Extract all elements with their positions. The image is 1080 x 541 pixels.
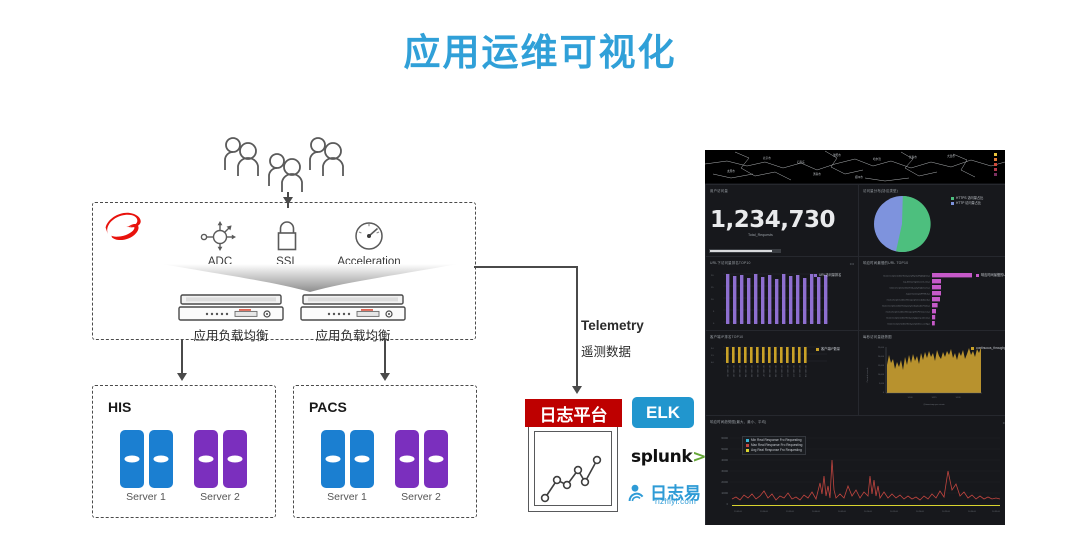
svg-text:14:00: 14:00 xyxy=(907,397,913,399)
panel-slow-url-title: 响应时间最慢的URL TOP10 xyxy=(863,260,908,265)
speedometer-icon xyxy=(324,218,414,252)
legend-item: 客户端IP数量 xyxy=(816,347,840,352)
svg-text:40000: 40000 xyxy=(721,459,728,462)
svg-text:/cgi-bin/wa/regist/HTML5.js: /cgi-bin/wa/regist/HTML5.js xyxy=(906,293,930,296)
svg-text:石家庄: 石家庄 xyxy=(797,160,805,164)
arrow-edge-to-his-head xyxy=(177,373,187,381)
slow-url-bar-chart: /statics/scripts/ueditor/third-party/Syn… xyxy=(862,270,1005,328)
log-platform-tab[interactable]: 日志平台 xyxy=(525,399,622,427)
server-icon xyxy=(194,430,218,488)
svg-text:北京市: 北京市 xyxy=(763,156,771,160)
svg-text:192.168.1.113: 192.168.1.113 xyxy=(798,365,800,377)
pacs-server-1-label: Server 1 xyxy=(314,491,380,503)
svg-text:10000: 10000 xyxy=(721,492,728,495)
svg-text:192.168.1.105: 192.168.1.105 xyxy=(750,365,752,377)
legend-item: continuous_throughput xyxy=(971,346,1005,351)
panel-client-ip[interactable]: 客户端IP排名TOP10 3.01.50.0 xyxy=(705,330,859,416)
legend-item: 响应时间最慢的URL xyxy=(976,273,1005,278)
panel-traffic-area[interactable]: 每秒访问量趋势图 25,00020,000 15,00010,000 5,000… xyxy=(858,330,1005,416)
traffic-area-legend: continuous_throughput xyxy=(971,346,1005,351)
svg-text:15,000: 15,000 xyxy=(878,365,885,367)
feature-acceleration: Acceleration xyxy=(324,218,414,268)
user-group-right xyxy=(307,136,351,178)
panel-total-requests-title: 用户访问量 xyxy=(710,188,728,193)
panel-response-time-title: 响应时间趋势图(最大、最小、平均) xyxy=(710,419,767,424)
svg-text:0: 0 xyxy=(727,503,729,506)
svg-text:济南市: 济南市 xyxy=(813,172,821,176)
svg-text:192.168.1.108: 192.168.1.108 xyxy=(768,365,770,377)
rizhiyi-logo-domain: rizhiyi.com xyxy=(655,497,696,506)
telemetry-connector-horizontal xyxy=(474,266,578,268)
telemetry-connector-vertical xyxy=(576,266,578,390)
svg-text:30000: 30000 xyxy=(721,470,728,473)
server-icon xyxy=(149,430,173,488)
svg-text:14:25:00: 14:25:00 xyxy=(942,511,951,513)
svg-text:192.168.1.104: 192.168.1.104 xyxy=(744,365,746,377)
his-server-1-label: Server 1 xyxy=(113,491,179,503)
panel-horizontal-scrollbar[interactable] xyxy=(709,249,781,253)
svg-text:13:45:00: 13:45:00 xyxy=(734,511,743,513)
splunk-logo-text: splunk xyxy=(631,447,692,467)
rack-server-icon xyxy=(177,294,285,324)
dashboard-map-panel[interactable]: 北京市石家庄 沈阳市哈尔滨 长春市大连市 太原市济南市 郑州市 xyxy=(705,150,1005,183)
panel-response-time-menu[interactable]: ••• xyxy=(1003,420,1005,425)
svg-text:192.168.1.112: 192.168.1.112 xyxy=(792,365,794,377)
response-time-legend: Min Real Response Fro Requesting Max Rea… xyxy=(742,436,806,455)
splunk-logo-chevron: > xyxy=(692,447,706,467)
svg-text:/statics/scripts/ueditor/third: /statics/scripts/ueditor/third-party/hig… xyxy=(889,287,930,290)
svg-text:/statics/scripts/ueditor/third: /statics/scripts/ueditor/third-party/edi… xyxy=(887,323,930,326)
arrow-edge-to-pacs-head xyxy=(380,373,390,381)
chart-card-sparkline xyxy=(535,432,611,508)
panel-slow-url[interactable]: 响应时间最慢的URL TOP10 /statics/scripts/uedito… xyxy=(858,256,1005,331)
rack-server-icon xyxy=(299,294,407,324)
svg-text:@timestamp per minute: @timestamp per minute xyxy=(923,403,945,406)
user-group-left xyxy=(222,136,266,178)
arrow-edge-to-his xyxy=(181,339,183,377)
svg-text:/statics/scripts/ueditor/third: /statics/scripts/ueditor/third-party/jqu… xyxy=(886,317,930,320)
svg-text:20,000: 20,000 xyxy=(878,356,885,358)
svg-text:192.168.1.107: 192.168.1.107 xyxy=(762,365,764,377)
svg-text:5: 5 xyxy=(713,311,715,313)
radware-swirl-logo xyxy=(100,208,146,244)
total-requests-value: 1,234,730 xyxy=(710,207,858,233)
chart-card-frame xyxy=(534,431,612,506)
his-server-1: Server 1 xyxy=(113,430,179,503)
svg-text:14:00:00: 14:00:00 xyxy=(812,511,821,513)
svg-text:15: 15 xyxy=(711,287,714,289)
url-hits-legend: URL访问量排名 xyxy=(814,273,841,278)
server-icon xyxy=(223,430,247,488)
svg-text:14:05:00: 14:05:00 xyxy=(838,511,847,513)
svg-text:/statics/scripts/ueditor/third: /statics/scripts/ueditor/third-party/zer… xyxy=(887,299,930,302)
padlock-icon xyxy=(242,218,332,252)
svg-text:/statics/scripts/ueditor/third: /statics/scripts/ueditor/third-party/Syn… xyxy=(883,275,930,278)
server-icon xyxy=(120,430,144,488)
client-ip-bar-chart: 3.01.50.0 192.168.1.101 192.168.1.102 19… xyxy=(709,344,855,412)
legend-item: URL访问量排名 xyxy=(814,273,841,278)
svg-text:10: 10 xyxy=(711,299,714,301)
url-hits-bar-chart: 2015 1050 xyxy=(709,270,855,328)
svg-text:0: 0 xyxy=(713,323,715,325)
svg-text:10,000: 10,000 xyxy=(878,374,885,376)
panel-total-requests[interactable]: 用户访问量 1,234,730 Total_Requests xyxy=(705,184,859,257)
svg-text:14:15: 14:15 xyxy=(931,397,937,399)
svg-text:13:55:00: 13:55:00 xyxy=(786,511,795,513)
traffic-area-chart: 25,00020,000 15,00010,000 5,0000 14:0014… xyxy=(862,343,1005,413)
svg-text:192.168.1.102: 192.168.1.102 xyxy=(732,365,734,377)
pacs-server-2: Server 2 xyxy=(388,430,454,503)
client-ip-legend: 客户端IP数量 xyxy=(816,347,840,352)
elk-button[interactable]: ELK xyxy=(632,397,694,428)
his-group-title: HIS xyxy=(108,399,131,415)
panel-client-ip-title: 客户端IP排名TOP10 xyxy=(710,334,743,339)
svg-text:192.168.1.101: 192.168.1.101 xyxy=(726,365,728,377)
svg-text:哈尔滨: 哈尔滨 xyxy=(873,157,881,161)
load-balancer-2: 应用负载均衡 xyxy=(298,294,408,344)
svg-text:192.168.1.106: 192.168.1.106 xyxy=(756,365,758,377)
svg-text:郑州市: 郑州市 xyxy=(855,175,863,179)
panel-url-hits-menu[interactable]: ••• xyxy=(850,261,854,266)
svg-text:/statics/scripts/ueditor/third: /statics/scripts/ueditor/third-party/SCP… xyxy=(886,311,930,314)
feature-ssl: SSL xyxy=(242,218,332,268)
panel-url-hits-title: URL下访问量排名TOP10 xyxy=(710,260,751,265)
svg-text:14:30:00: 14:30:00 xyxy=(968,511,977,513)
pacs-server-1: Server 1 xyxy=(314,430,380,503)
splunk-logo: splunk> xyxy=(631,447,706,467)
svg-text:20: 20 xyxy=(711,275,714,277)
svg-text:5,000: 5,000 xyxy=(879,383,885,385)
legend-item: HTTP 访问量占比 xyxy=(951,201,983,206)
server-icon xyxy=(350,430,374,488)
line-chart-card-icon xyxy=(528,413,618,512)
slide-canvas: 应用运维可视化 xyxy=(0,0,1080,541)
his-server-2: Server 2 xyxy=(187,430,253,503)
protocol-pie-chart xyxy=(871,193,933,255)
svg-text:192.168.1.109: 192.168.1.109 xyxy=(774,365,776,377)
svg-text:20000: 20000 xyxy=(721,481,728,484)
log-analytics-dashboard[interactable]: 北京市石家庄 沈阳市哈尔滨 长春市大连市 太原市济南市 郑州市 用户访问量 1,… xyxy=(705,150,1005,525)
panel-url-hits[interactable]: URL下访问量排名TOP10 ••• xyxy=(705,256,859,331)
svg-text:192.168.1.111: 192.168.1.111 xyxy=(786,365,788,377)
load-balancer-1-label: 应用负载均衡 xyxy=(176,325,286,344)
protocol-pie-legend: HTTPS 访问量占比 HTTP 访问量占比 xyxy=(951,196,983,206)
pacs-server-2-label: Server 2 xyxy=(388,491,454,503)
rizhiyi-mark-icon xyxy=(628,483,648,503)
load-balancer-2-label: 应用负载均衡 xyxy=(298,325,408,344)
server-icon xyxy=(395,430,419,488)
svg-text:192.168.1.103: 192.168.1.103 xyxy=(738,365,740,377)
pacs-group-title: PACS xyxy=(309,399,347,415)
svg-text:/statics/scripts/ueditor/third: /statics/scripts/ueditor/third-party/web… xyxy=(882,305,930,308)
slow-url-legend: 响应时间最慢的URL xyxy=(976,273,1005,278)
svg-text:14:20:00: 14:20:00 xyxy=(916,511,925,513)
telemetry-label-cn: 遥测数据 xyxy=(581,341,631,360)
svg-text:0.0: 0.0 xyxy=(711,362,715,364)
page-title: 应用运维可视化 xyxy=(0,22,1080,76)
his-server-2-label: Server 2 xyxy=(187,491,253,503)
svg-text:25,000: 25,000 xyxy=(878,347,885,349)
svg-text:太原市: 太原市 xyxy=(727,169,735,173)
svg-text:大连市: 大连市 xyxy=(947,154,955,158)
telemetry-label-en: Telemetry xyxy=(581,318,644,333)
load-balancer-1: 应用负载均衡 xyxy=(176,294,286,344)
svg-text:0: 0 xyxy=(883,392,885,394)
svg-text:192.168.1.114: 192.168.1.114 xyxy=(804,365,806,377)
total-requests-caption: Total_Requests xyxy=(748,233,773,237)
svg-text:192.168.1.110: 192.168.1.110 xyxy=(780,365,782,377)
panel-traffic-area-title: 每秒访问量趋势图 xyxy=(863,334,892,339)
svg-text:长春市: 长春市 xyxy=(909,155,917,159)
telemetry-arrow-head xyxy=(572,386,582,394)
svg-text:/cgi-bin/wa/regist/assets_list: /cgi-bin/wa/regist/assets_list.js xyxy=(903,281,930,284)
svg-text:沈阳市: 沈阳市 xyxy=(833,153,841,157)
svg-text:14:10:00: 14:10:00 xyxy=(864,511,873,513)
svg-text:60000: 60000 xyxy=(721,437,728,440)
svg-text:3.0: 3.0 xyxy=(711,348,715,350)
svg-text:1.5: 1.5 xyxy=(711,355,715,357)
funnel-shape xyxy=(160,262,460,296)
svg-text:13:50:00: 13:50:00 xyxy=(760,511,769,513)
arrow-edge-to-pacs xyxy=(384,339,386,377)
svg-text:50000: 50000 xyxy=(721,448,728,451)
panel-response-time[interactable]: 响应时间趋势图(最大、最小、平均) ••• 6000050000 4000030… xyxy=(705,415,1005,525)
rizhiyi-logo: 日志易 rizhiyi.com xyxy=(628,481,714,509)
svg-text:14:35:00: 14:35:00 xyxy=(992,511,1001,513)
server-icon xyxy=(321,430,345,488)
server-icon xyxy=(424,430,448,488)
svg-text:14:30: 14:30 xyxy=(955,397,961,399)
panel-protocol-pie[interactable]: 访问量分布(协议类型) HTTPS 访问量占比 HTTP 访问量占比 xyxy=(858,184,1005,257)
legend-item: Avg Real Response Fro Requesting xyxy=(746,448,802,453)
user-group-center xyxy=(266,152,310,194)
svg-text:Count of records: Count of records xyxy=(866,368,869,383)
svg-text:14:15:00: 14:15:00 xyxy=(890,511,899,513)
